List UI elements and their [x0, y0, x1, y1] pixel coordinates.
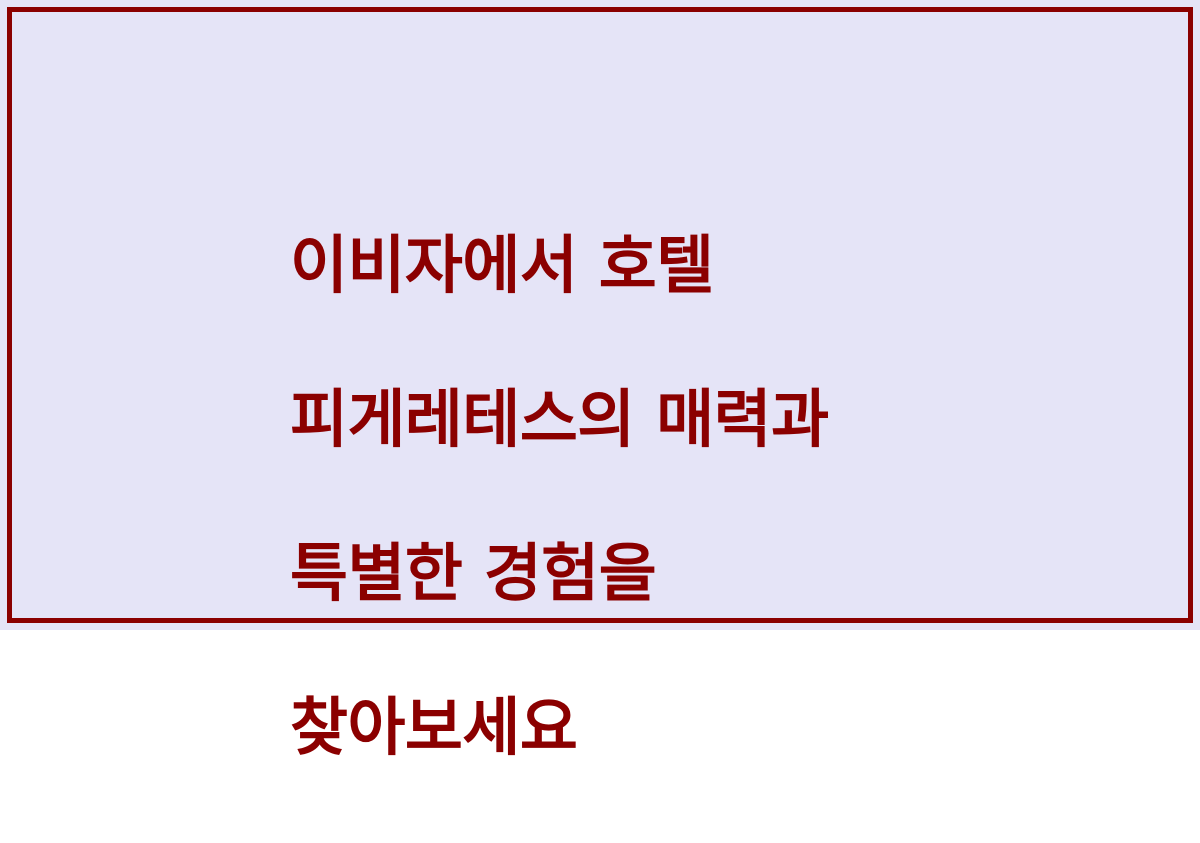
banner-frame-border: 이비자에서 호텔 피게레테스의 매력과 특별한 경험을 찾아보세요: [7, 7, 1193, 623]
headline-block: 이비자에서 호텔 피게레테스의 매력과 특별한 경험을 찾아보세요: [290, 150, 1110, 843]
banner-canvas: 이비자에서 호텔 피게레테스의 매력과 특별한 경험을 찾아보세요: [0, 0, 1200, 630]
page-title: 이비자에서 호텔 피게레테스의 매력과 특별한 경험을 찾아보세요: [290, 150, 1110, 843]
headline-line-4: 찾아보세요: [290, 689, 1110, 766]
headline-line-2: 피게레테스의 매력과: [290, 381, 1110, 458]
headline-line-1: 이비자에서 호텔: [290, 227, 1110, 304]
headline-line-3: 특별한 경험을: [290, 535, 1110, 612]
